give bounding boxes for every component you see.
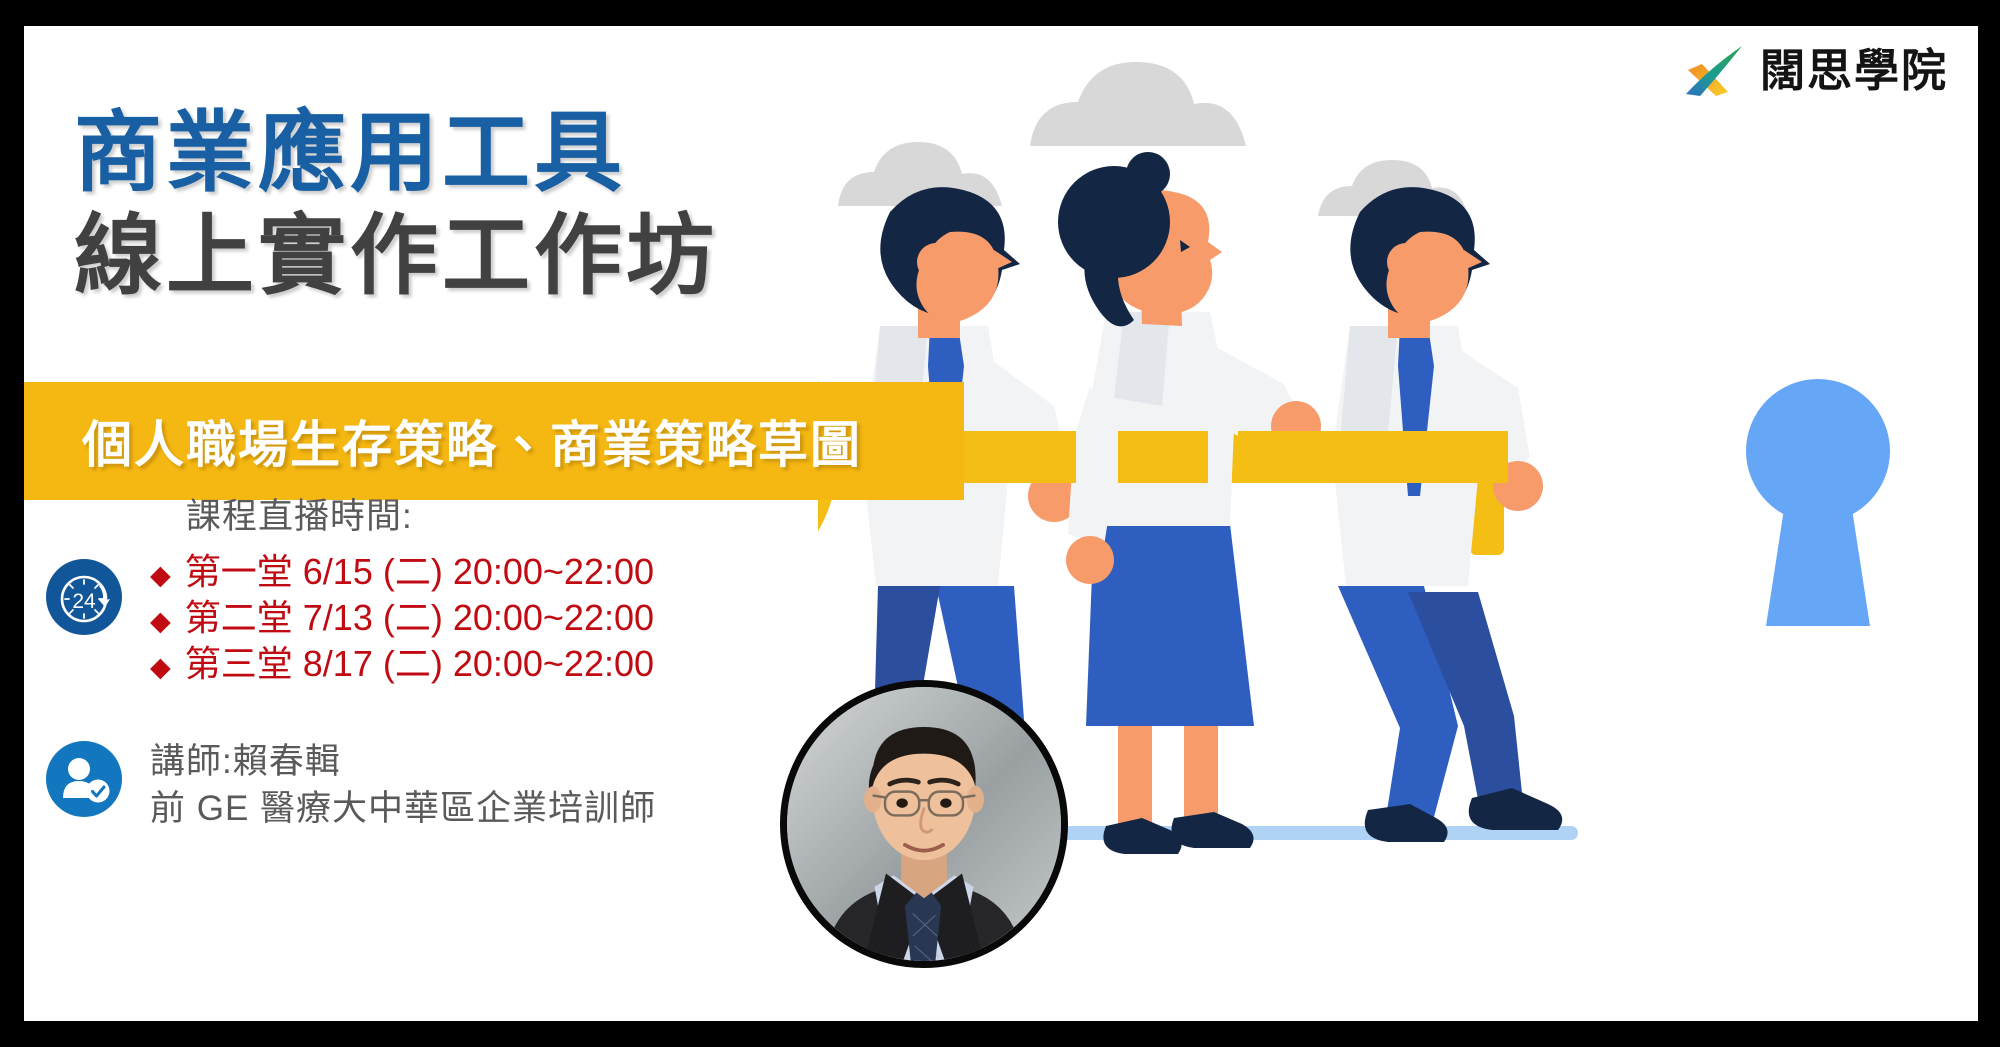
session-list: ◆ 第一堂 6/15 (二) 20:00~22:00 ◆ 第二堂 7/13 (二… [150, 549, 654, 687]
banner-canvas: 闊思學院 商業應用工具 線上實作工作坊 個人職場生存策略、商業策略草圖 課程直播… [24, 26, 1978, 1021]
session-text: 第二堂 7/13 (二) 20:00~22:00 [185, 595, 654, 641]
session-text: 第三堂 8/17 (二) 20:00~22:00 [185, 641, 654, 687]
list-item: ◆ 第三堂 8/17 (二) 20:00~22:00 [150, 641, 654, 687]
clock-24-icon: 24 [46, 559, 122, 635]
figure-businessman-right [1332, 187, 1562, 842]
instructor-name: 講師:賴春輯 [150, 739, 656, 786]
page-title-line-1: 商業應用工具 [74, 104, 800, 203]
instructor-credential: 前 GE 醫療大中華區企業培訓師 [150, 786, 656, 833]
subtitle-text: 個人職場生存策略、商業策略草圖 [82, 405, 862, 477]
list-item: ◆ 第一堂 6/15 (二) 20:00~22:00 [150, 549, 654, 595]
instructor-row: 講師:賴春輯 前 GE 醫療大中華區企業培訓師 [46, 735, 786, 833]
session-text: 第一堂 6/15 (二) 20:00~22:00 [185, 549, 654, 595]
brand-logo[interactable]: 闊思學院 [1684, 42, 1948, 98]
headline-block: 商業應用工具 線上實作工作坊 [60, 104, 800, 305]
figure-businesswoman-middle [1058, 152, 1321, 854]
instructor-text-block: 講師:賴春輯 前 GE 醫療大中華區企業培訓師 [150, 735, 656, 833]
diamond-bullet-icon: ◆ [150, 608, 171, 635]
subtitle-band: 個人職場生存策略、商業策略草圖 [24, 382, 964, 500]
instructor-portrait-avatar [780, 680, 1068, 968]
diamond-bullet-icon: ◆ [150, 562, 171, 589]
list-item: ◆ 第二堂 7/13 (二) 20:00~22:00 [150, 595, 654, 641]
person-verified-icon [46, 741, 122, 817]
page-title-line-2: 線上實作工作坊 [74, 207, 800, 306]
schedule-row: 24 ◆ 第一堂 6/15 (二) 20:00~22:00 ◆ 第二堂 7/13… [46, 549, 786, 687]
x-mark-logo-icon [1684, 42, 1746, 98]
schedule-heading: 課程直播時間: [186, 488, 786, 539]
banner-black-frame: 闊思學院 商業應用工具 線上實作工作坊 個人職場生存策略、商業策略草圖 課程直播… [0, 0, 2000, 1047]
course-info-block: 課程直播時間: [46, 488, 786, 833]
diamond-bullet-icon: ◆ [150, 654, 171, 681]
svg-text:24: 24 [72, 590, 96, 613]
brand-logo-text: 闊思學院 [1760, 48, 1948, 93]
info-spacer [46, 687, 786, 731]
keyhole-shape [1746, 379, 1890, 626]
